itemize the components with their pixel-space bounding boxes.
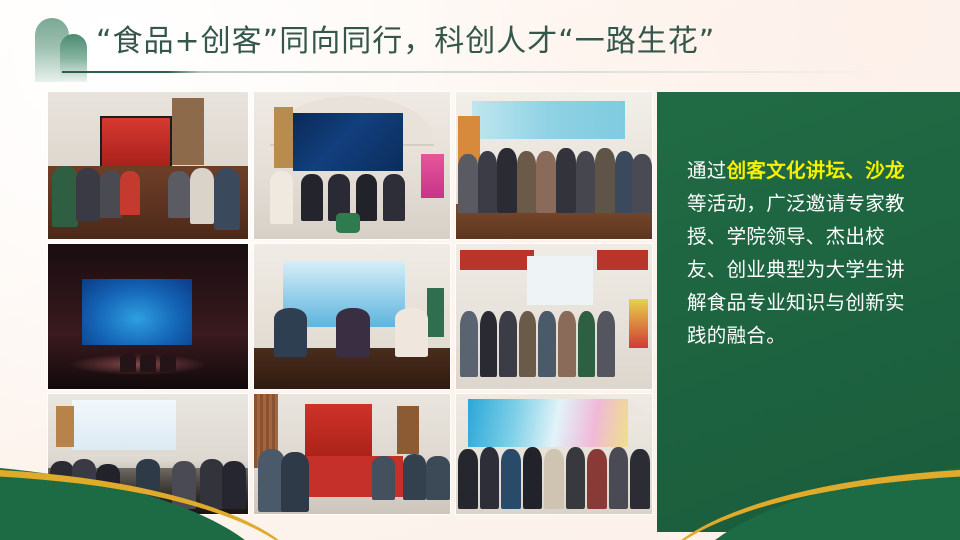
photo-thumbnail[interactable] bbox=[254, 92, 450, 239]
presentation-slide: “食品+创客”同向同行，科创人才“一路生花” bbox=[0, 0, 960, 540]
panel-text-body: 等活动，广泛邀请专家教授、学院领导、杰出校友、创业典型为大学生讲解食品专业知识与… bbox=[687, 192, 905, 347]
panel-text-highlight: 创客文化讲坛、沙龙 bbox=[727, 159, 905, 182]
panel-text-lead: 通过 bbox=[687, 159, 727, 182]
photo-thumbnail[interactable] bbox=[456, 92, 652, 239]
photo-thumbnail[interactable] bbox=[48, 394, 248, 514]
photo-grid bbox=[48, 92, 648, 512]
photo-thumbnail[interactable] bbox=[456, 394, 652, 514]
photo-thumbnail[interactable] bbox=[456, 244, 652, 389]
photo-thumbnail[interactable] bbox=[254, 244, 450, 389]
photo-thumbnail[interactable] bbox=[254, 394, 450, 514]
photo-thumbnail[interactable] bbox=[48, 244, 248, 389]
text-panel: 通过创客文化讲坛、沙龙等活动，广泛邀请专家教授、学院领导、杰出校友、创业典型为大… bbox=[657, 92, 960, 532]
panel-paragraph: 通过创客文化讲坛、沙龙等活动，广泛邀请专家教授、学院领导、杰出校友、创业典型为大… bbox=[687, 154, 905, 352]
slide-title: “食品+创客”同向同行，科创人才“一路生花” bbox=[96, 22, 715, 62]
title-underline bbox=[62, 71, 900, 73]
arch-front-icon bbox=[60, 34, 87, 82]
photo-thumbnail[interactable] bbox=[48, 92, 248, 239]
